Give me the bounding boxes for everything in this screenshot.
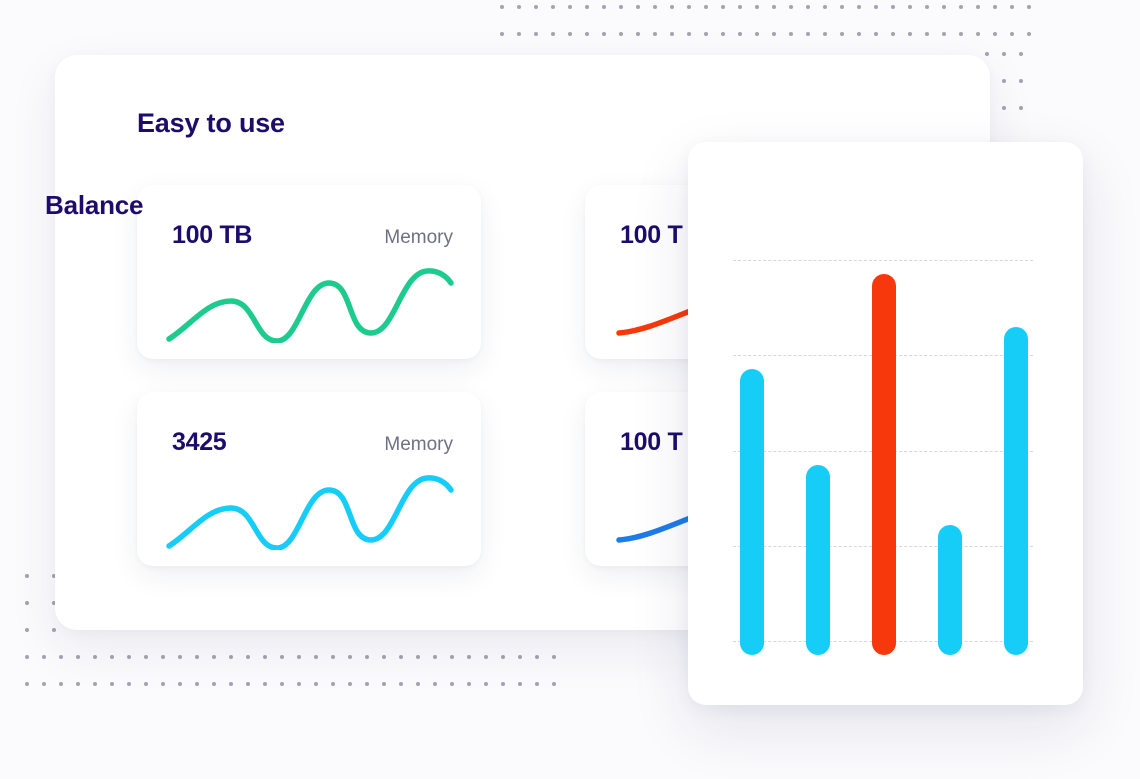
decorative-dot bbox=[874, 5, 878, 9]
decorative-dot bbox=[619, 32, 623, 36]
chart-bar[interactable] bbox=[1004, 327, 1028, 655]
decorative-dot bbox=[42, 682, 46, 686]
decorative-dot bbox=[738, 5, 742, 9]
decorative-dot bbox=[568, 5, 572, 9]
stat-label: Memory bbox=[384, 227, 453, 249]
decorative-dot bbox=[263, 682, 267, 686]
decorative-dot bbox=[110, 655, 114, 659]
decorative-dot bbox=[517, 5, 521, 9]
stat-label: Memory bbox=[384, 434, 453, 456]
decorative-dot bbox=[195, 682, 199, 686]
chart-gridline bbox=[733, 260, 1033, 261]
decorative-dot bbox=[1019, 106, 1023, 110]
decorative-dot bbox=[1019, 79, 1023, 83]
decorative-dot bbox=[535, 655, 539, 659]
decorative-dot bbox=[891, 32, 895, 36]
stat-value: 3425 bbox=[172, 428, 226, 457]
decorative-dot bbox=[976, 5, 980, 9]
decorative-dot bbox=[823, 5, 827, 9]
decorative-dot bbox=[602, 5, 606, 9]
decorative-dot bbox=[416, 655, 420, 659]
decorative-dot bbox=[195, 655, 199, 659]
decorative-dot bbox=[382, 682, 386, 686]
decorative-dot bbox=[484, 655, 488, 659]
decorative-dot bbox=[297, 655, 301, 659]
decorative-dot bbox=[704, 5, 708, 9]
decorative-dot bbox=[636, 32, 640, 36]
decorative-dot bbox=[687, 32, 691, 36]
decorative-dot bbox=[976, 32, 980, 36]
dot-row bbox=[500, 5, 1044, 9]
decorative-dot bbox=[602, 32, 606, 36]
decorative-dot bbox=[653, 32, 657, 36]
decorative-dot bbox=[314, 682, 318, 686]
decorative-dot bbox=[721, 5, 725, 9]
decorative-dot bbox=[891, 5, 895, 9]
decorative-dot bbox=[348, 655, 352, 659]
decorative-dot bbox=[280, 655, 284, 659]
dot-row bbox=[500, 32, 1044, 36]
decorative-dot bbox=[619, 5, 623, 9]
decorative-dot bbox=[925, 32, 929, 36]
decorative-dot bbox=[535, 682, 539, 686]
decorative-dot bbox=[127, 682, 131, 686]
decorative-dot bbox=[721, 32, 725, 36]
decorative-dot bbox=[959, 32, 963, 36]
decorative-dot bbox=[178, 682, 182, 686]
decorative-dot bbox=[908, 32, 912, 36]
dot-row bbox=[25, 655, 569, 659]
decorative-dot bbox=[127, 655, 131, 659]
dot-row bbox=[985, 52, 1036, 56]
decorative-dot bbox=[144, 655, 148, 659]
decorative-dot bbox=[433, 655, 437, 659]
decorative-dot bbox=[229, 655, 233, 659]
decorative-dot bbox=[1002, 106, 1006, 110]
decorative-dot bbox=[517, 32, 521, 36]
decorative-dot bbox=[93, 682, 97, 686]
decorative-dot bbox=[500, 32, 504, 36]
decorative-dot bbox=[806, 32, 810, 36]
decorative-dot bbox=[823, 32, 827, 36]
decorative-dot bbox=[25, 628, 29, 632]
balance-bar-chart[interactable] bbox=[733, 260, 1033, 655]
stat-value: 100 TB bbox=[172, 221, 252, 250]
decorative-dot bbox=[229, 682, 233, 686]
dot-row bbox=[25, 682, 569, 686]
decorative-dot bbox=[993, 32, 997, 36]
decorative-dot bbox=[840, 5, 844, 9]
dot-row bbox=[985, 106, 1036, 110]
decorative-dot bbox=[772, 32, 776, 36]
decorative-dot bbox=[59, 655, 63, 659]
decorative-dot bbox=[501, 682, 505, 686]
decorative-dot bbox=[25, 601, 29, 605]
decorative-dot bbox=[467, 655, 471, 659]
decorative-dot-grid-bottom-wide bbox=[25, 655, 569, 709]
decorative-dot bbox=[263, 655, 267, 659]
decorative-dot bbox=[857, 32, 861, 36]
decorative-dot bbox=[297, 682, 301, 686]
decorative-dot bbox=[687, 5, 691, 9]
decorative-dot bbox=[365, 682, 369, 686]
decorative-dot bbox=[178, 655, 182, 659]
decorative-dot bbox=[399, 682, 403, 686]
page-title: Easy to use bbox=[137, 108, 285, 139]
decorative-dot bbox=[1010, 32, 1014, 36]
decorative-dot bbox=[942, 5, 946, 9]
balance-panel-title: Balance bbox=[45, 190, 143, 221]
decorative-dot bbox=[959, 5, 963, 9]
decorative-dot bbox=[534, 32, 538, 36]
decorative-dot bbox=[450, 655, 454, 659]
decorative-dot bbox=[25, 655, 29, 659]
decorative-dot bbox=[52, 628, 56, 632]
decorative-dot bbox=[1019, 52, 1023, 56]
decorative-dot bbox=[551, 5, 555, 9]
decorative-dot bbox=[789, 5, 793, 9]
stat-card-memory-2[interactable]: 3425 Memory bbox=[137, 392, 481, 566]
decorative-dot bbox=[1002, 79, 1006, 83]
stat-value: 100 T bbox=[620, 428, 682, 457]
decorative-dot bbox=[942, 32, 946, 36]
decorative-dot bbox=[1010, 5, 1014, 9]
decorative-dot bbox=[585, 5, 589, 9]
decorative-dot bbox=[755, 32, 759, 36]
screenshot-stage: Easy to use 100 TB Memory 3425 Memory 10… bbox=[0, 0, 1140, 779]
decorative-dot bbox=[399, 655, 403, 659]
decorative-dot bbox=[1002, 52, 1006, 56]
decorative-dot bbox=[985, 52, 989, 56]
decorative-dot bbox=[331, 655, 335, 659]
decorative-dot bbox=[25, 682, 29, 686]
decorative-dot bbox=[925, 5, 929, 9]
decorative-dot bbox=[806, 5, 810, 9]
chart-bar[interactable] bbox=[806, 465, 830, 656]
chart-bar[interactable] bbox=[938, 525, 962, 655]
decorative-dot bbox=[636, 5, 640, 9]
decorative-dot bbox=[433, 682, 437, 686]
decorative-dot bbox=[653, 5, 657, 9]
decorative-dot bbox=[161, 655, 165, 659]
decorative-dot bbox=[76, 682, 80, 686]
decorative-dot bbox=[76, 655, 80, 659]
decorative-dot bbox=[993, 5, 997, 9]
decorative-dot bbox=[416, 682, 420, 686]
decorative-dot bbox=[25, 574, 29, 578]
dot-row bbox=[985, 79, 1036, 83]
decorative-dot bbox=[857, 5, 861, 9]
chart-bar[interactable] bbox=[872, 274, 896, 655]
decorative-dot bbox=[42, 655, 46, 659]
stat-card-header: 100 TB Memory bbox=[172, 221, 453, 250]
decorative-dot bbox=[551, 32, 555, 36]
decorative-dot bbox=[585, 32, 589, 36]
decorative-dot bbox=[59, 682, 63, 686]
decorative-dot bbox=[467, 682, 471, 686]
stat-card-memory-1[interactable]: 100 TB Memory bbox=[137, 185, 481, 359]
decorative-dot bbox=[110, 682, 114, 686]
decorative-dot bbox=[246, 682, 250, 686]
decorative-dot bbox=[212, 682, 216, 686]
stat-value: 100 T bbox=[620, 221, 682, 250]
decorative-dot bbox=[518, 682, 522, 686]
decorative-dot bbox=[500, 5, 504, 9]
decorative-dot bbox=[161, 682, 165, 686]
decorative-dot bbox=[755, 5, 759, 9]
decorative-dot bbox=[704, 32, 708, 36]
decorative-dot bbox=[840, 32, 844, 36]
decorative-dot bbox=[772, 5, 776, 9]
decorative-dot bbox=[348, 682, 352, 686]
decorative-dot bbox=[670, 5, 674, 9]
decorative-dot bbox=[246, 655, 250, 659]
decorative-dot bbox=[382, 655, 386, 659]
sparkline-wave-cyan-icon bbox=[165, 470, 455, 550]
decorative-dot bbox=[1027, 5, 1031, 9]
decorative-dot bbox=[1027, 32, 1031, 36]
decorative-dot bbox=[93, 655, 97, 659]
decorative-dot bbox=[212, 655, 216, 659]
decorative-dot bbox=[450, 682, 454, 686]
decorative-dot bbox=[568, 32, 572, 36]
decorative-dot bbox=[331, 682, 335, 686]
decorative-dot bbox=[789, 32, 793, 36]
decorative-dot bbox=[738, 32, 742, 36]
decorative-dot bbox=[670, 32, 674, 36]
decorative-dot bbox=[534, 5, 538, 9]
decorative-dot bbox=[314, 655, 318, 659]
decorative-dot bbox=[518, 655, 522, 659]
stat-card-header: 3425 Memory bbox=[172, 428, 453, 457]
decorative-dot bbox=[908, 5, 912, 9]
decorative-dot bbox=[501, 655, 505, 659]
decorative-dot-grid-top bbox=[500, 5, 1044, 59]
decorative-dot bbox=[484, 682, 488, 686]
decorative-dot bbox=[874, 32, 878, 36]
sparkline-wave-green-icon bbox=[165, 263, 455, 343]
decorative-dot bbox=[280, 682, 284, 686]
chart-bar[interactable] bbox=[740, 369, 764, 655]
decorative-dot bbox=[144, 682, 148, 686]
decorative-dot bbox=[552, 682, 556, 686]
decorative-dot bbox=[552, 655, 556, 659]
decorative-dot-grid-top-right bbox=[985, 52, 1036, 133]
decorative-dot bbox=[365, 655, 369, 659]
